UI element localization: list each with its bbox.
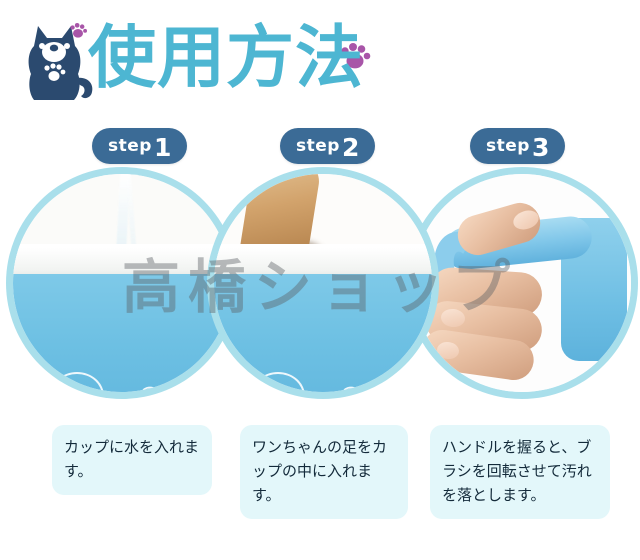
step-photo-row: Water Level — [0, 155, 640, 420]
water-level-label: Water Level — [63, 387, 92, 392]
water-waves-icon — [343, 384, 417, 392]
cup-body: Water Level — [214, 274, 432, 392]
step-badge-number: 3 — [532, 135, 549, 160]
step-badge-word: step — [486, 136, 530, 156]
step-badge-1: step 1 — [92, 128, 187, 164]
step-caption-2: ワンちゃんの足をカップの中に入れます。 — [240, 425, 408, 519]
step-photo-1: Water Level — [6, 167, 238, 399]
water-level-bubble: Water Level — [50, 372, 104, 392]
header: 使用方法 — [0, 0, 640, 112]
water-level-line1: Water — [63, 387, 92, 392]
water-pouring-into-cup-photo: Water Level — [13, 174, 231, 392]
water-waves-icon — [142, 384, 216, 392]
step-caption-1: カップに水を入れます。 — [52, 425, 212, 495]
water-level-line1: Water — [264, 387, 293, 392]
step-photo-2: Water Level — [207, 167, 439, 399]
cup-body: Water Level — [13, 274, 231, 392]
infographic-page: 使用方法 step 1 step 2 step 3 — [0, 0, 640, 560]
water-level-bubble: Water Level — [251, 372, 305, 392]
paw-scene: Water Level — [214, 174, 432, 392]
step-badge-word: step — [108, 136, 152, 156]
step-caption-3: ハンドルを握ると、ブラシを回転させて汚れを落とします。 — [430, 425, 610, 519]
step-badge-word: step — [296, 136, 340, 156]
step-badge-2: step 2 — [280, 128, 375, 164]
water-level-label: Water Level — [264, 387, 293, 392]
step-badge-number: 2 — [342, 135, 359, 160]
dog-paw-in-cup-photo: Water Level — [214, 174, 432, 392]
step-badge-3: step 3 — [470, 128, 565, 164]
paw-print-icon — [68, 20, 88, 40]
page-title: 使用方法 — [88, 16, 364, 102]
hand-gripping-handle-photo — [413, 174, 631, 392]
step-badge-number: 1 — [154, 135, 171, 160]
hand-scene — [413, 174, 631, 392]
step-photo-3 — [406, 167, 638, 399]
cup-scene: Water Level — [13, 174, 231, 392]
